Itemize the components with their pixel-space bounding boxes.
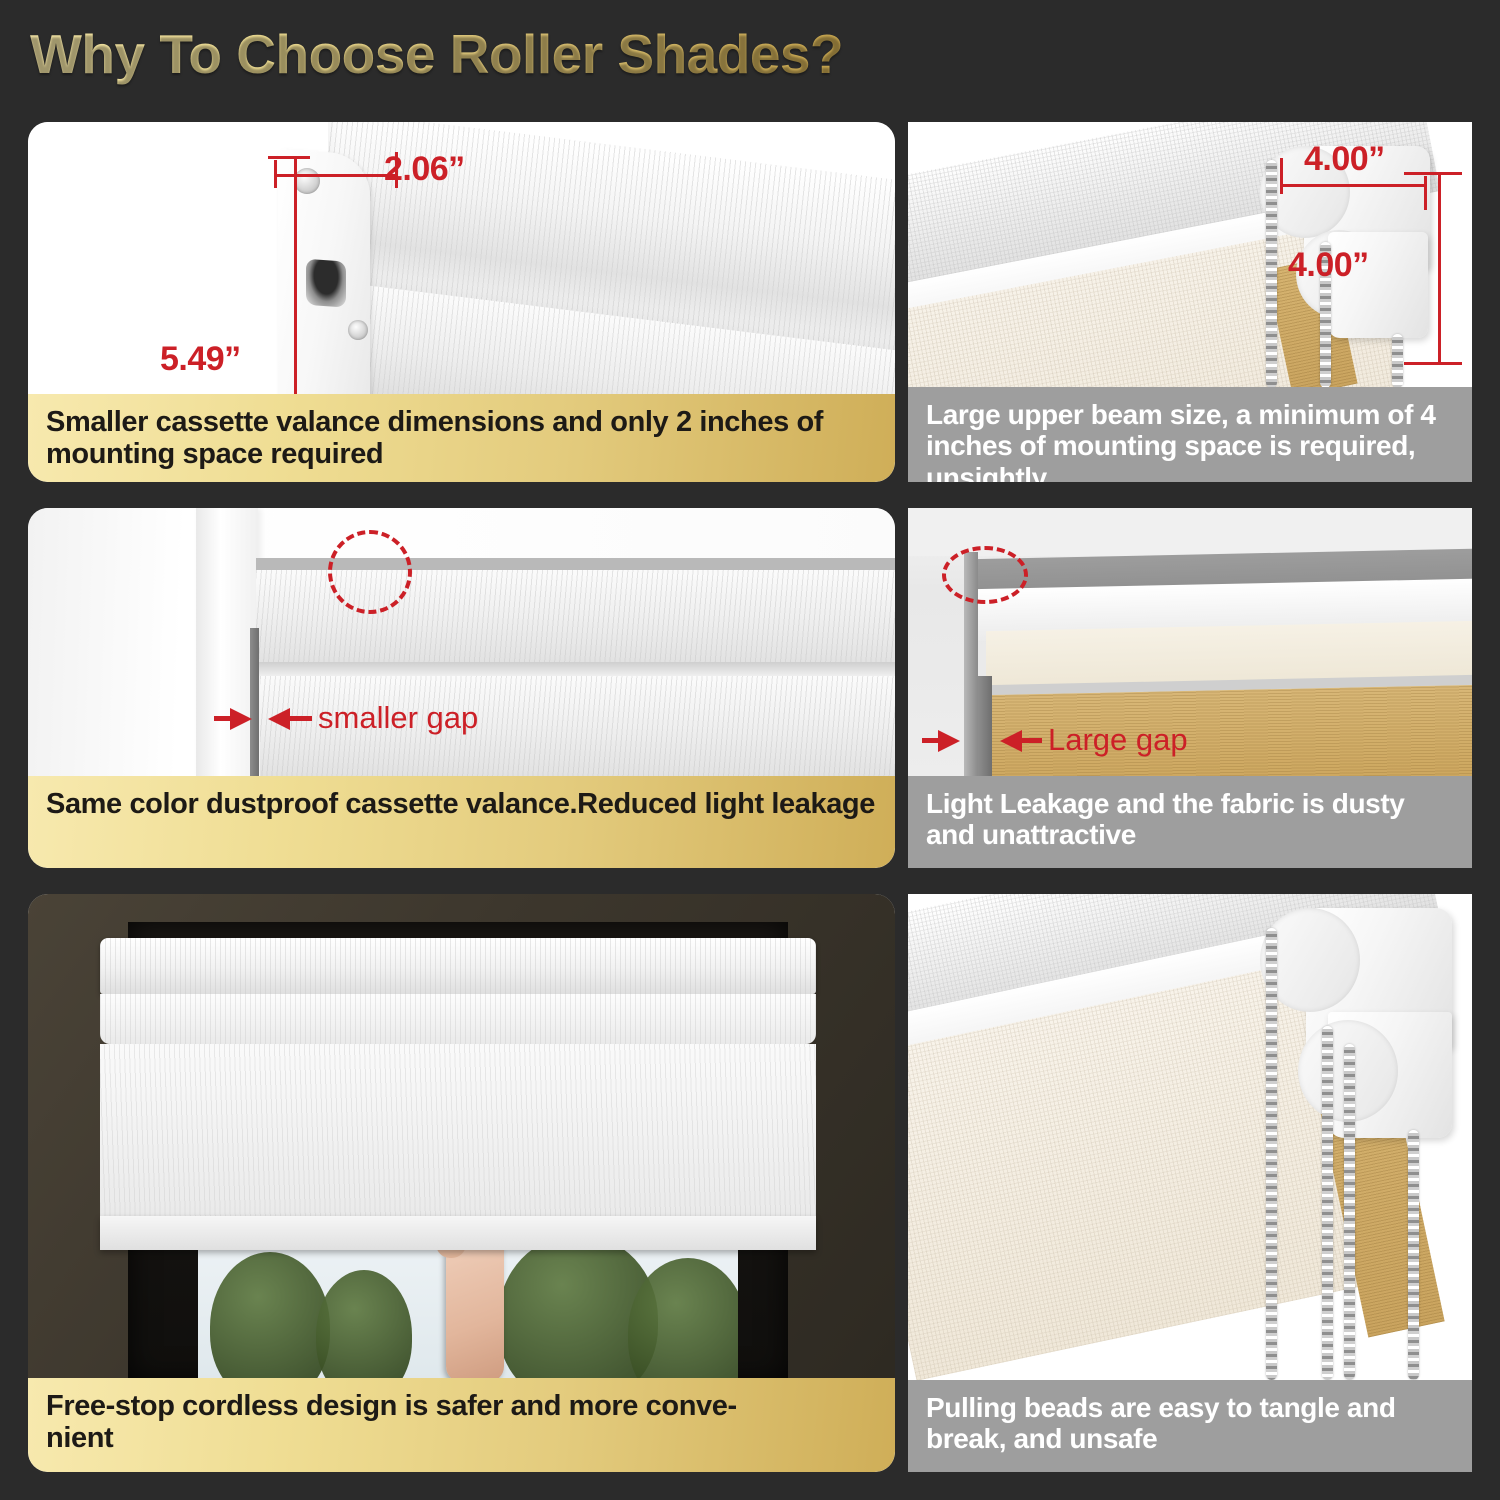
bead-chain-front: [1266, 160, 1277, 387]
caption-good-cassette-size: Smaller cassette valance dimensions and …: [28, 394, 895, 482]
panel-image-small-gap: smaller gap: [28, 508, 895, 776]
shade-fabric-panel: [100, 1044, 816, 1224]
gap-arrow-right-stem: [290, 716, 312, 721]
bead-chain-4: [1408, 1130, 1419, 1380]
highlight-circle-cassette: [328, 530, 412, 614]
height-dimension-tick-top: [268, 156, 310, 159]
caption-bad-beads: Pulling beads are easy to tangle and bre…: [908, 1380, 1472, 1472]
gap-arrow-left-stem: [922, 738, 942, 743]
beam-width-tick-right: [1424, 176, 1427, 210]
caption-text: Same color dustproof cassette valance.Re…: [46, 788, 879, 820]
caption-text: Free-stop cordless design is safer and m…: [46, 1390, 879, 1455]
gap-arrow-right-stem: [1022, 738, 1042, 743]
caption-bad-beam-size: Large upper beam size, a minimum of 4 in…: [908, 387, 1472, 482]
bead-chain-2: [1322, 1026, 1333, 1380]
beam-width-dimension-line: [1280, 184, 1426, 187]
height-dimension-line: [294, 156, 297, 394]
panel-image-cassette-profile: 2.06” 5.49”: [28, 122, 895, 394]
beam-height-dimension-line: [1438, 172, 1441, 364]
cassette-valance-top: [100, 938, 816, 994]
gap-arrow-left-stem: [214, 716, 234, 721]
panel-bad-beam-size: 4.00” 4.00” Large upper beam size, a min…: [908, 122, 1472, 482]
panel-bad-light-gap: Large gap Light Leakage and the fabric i…: [908, 508, 1472, 868]
window-frame-jamb: [196, 508, 258, 776]
bead-chain-1: [1266, 928, 1277, 1380]
light-gap-large: [978, 676, 992, 776]
panel-image-room-window: [28, 894, 895, 1378]
caption-text: Light Leakage and the fabric is dusty an…: [926, 788, 1456, 851]
bead-chain-back: [1392, 334, 1403, 387]
panel-good-cassette-size: 2.06” 5.49” Smaller cassette valance dim…: [28, 122, 895, 482]
end-cap-screw-top: [294, 168, 320, 194]
shade-bottom-rail: [100, 1216, 816, 1250]
tree-left-2: [316, 1270, 412, 1378]
cassette-bottom-lip: [256, 662, 895, 676]
gap-arrow-right-icon: [268, 708, 290, 730]
panel-good-light-gap: smaller gap Same color dustproof cassett…: [28, 508, 895, 868]
height-dimension-label: 5.49”: [160, 340, 241, 379]
width-dimension-label: 2.06”: [384, 150, 465, 189]
end-cap-screw-mid: [348, 320, 368, 340]
gap-callout-label: Large gap: [1048, 722, 1188, 758]
panel-image-large-beam: 4.00” 4.00”: [908, 122, 1472, 387]
cassette-valance-lower: [100, 994, 816, 1044]
infographic-page: Why To Choose Roller Shades? 2.06”: [0, 0, 1500, 1500]
panel-image-large-gap: Large gap: [908, 508, 1472, 776]
caption-text: Smaller cassette valance dimensions and …: [46, 406, 879, 471]
tree-left: [210, 1252, 330, 1378]
light-gap-small: [250, 628, 259, 776]
caption-bad-light-gap: Light Leakage and the fabric is dusty an…: [908, 776, 1472, 868]
caption-text: Pulling beads are easy to tangle and bre…: [926, 1392, 1456, 1455]
gap-arrow-right-icon: [1000, 730, 1022, 752]
width-dimension-line: [274, 174, 398, 177]
caption-good-light-gap: Same color dustproof cassette valance.Re…: [28, 776, 895, 868]
caption-text: Large upper beam size, a minimum of 4 in…: [926, 399, 1456, 482]
page-title: Why To Choose Roller Shades?: [30, 22, 843, 86]
beam-width-tick-left: [1280, 158, 1283, 194]
panel-good-cordless: Free-stop cordless design is safer and m…: [28, 894, 895, 1472]
caption-good-cordless: Free-stop cordless design is safer and m…: [28, 1378, 895, 1472]
gap-callout-label: smaller gap: [318, 700, 478, 736]
beam-height-tick-top: [1404, 172, 1462, 175]
bead-chain-3: [1344, 1044, 1355, 1380]
panel-bad-beads: Pulling beads are easy to tangle and bre…: [908, 894, 1472, 1472]
beam-width-dimension-label: 4.00”: [1304, 140, 1385, 179]
beam-height-tick-bottom: [1404, 362, 1462, 365]
highlight-circle-gap: [942, 546, 1028, 604]
panel-image-bead-chains: [908, 894, 1472, 1380]
beam-height-dimension-label: 4.00”: [1288, 246, 1369, 285]
width-dimension-tick-left: [274, 160, 277, 188]
valance-end-cap: [278, 149, 370, 394]
